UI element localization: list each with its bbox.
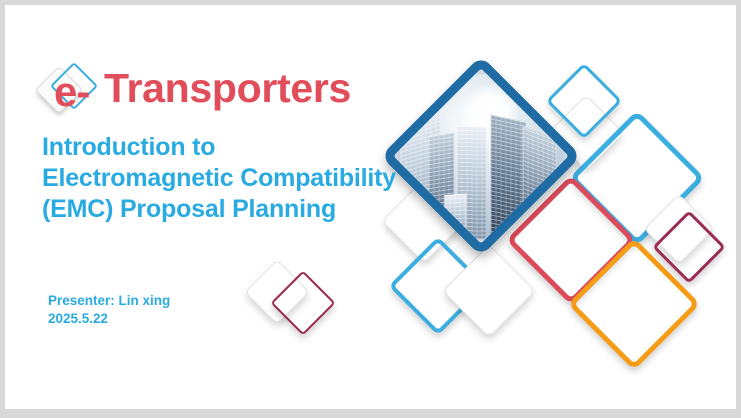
diamond-cyan-large-right (569, 110, 705, 246)
presentation-slide: e- Transporters Introduction to Electrom… (6, 6, 735, 408)
page-title: Introduction to Electromagnetic Compatib… (42, 132, 442, 225)
presenter-name: Presenter: Lin xing (48, 292, 170, 310)
diamond-logo-icon: e- (40, 65, 94, 117)
presentation-date: 2025.5.22 (48, 310, 170, 328)
diamond-gray-lower-mid (442, 244, 535, 337)
diamond-orange-bottom (568, 238, 701, 371)
page-title-line-3: (EMC) Proposal Planning (42, 194, 442, 225)
page-title-line-1: Introduction to (42, 132, 442, 163)
brand-prefix: e- (54, 66, 89, 118)
diamond-cyan-top-right (546, 63, 622, 139)
building-foreground-low (445, 193, 467, 239)
page-title-line-2: Electromagnetic Compatibility (42, 163, 442, 194)
diamond-maroon-right (652, 210, 726, 284)
presenter-block: Presenter: Lin xing 2025.5.22 (48, 292, 170, 328)
diamond-gray-right-small (644, 194, 715, 265)
diamond-gray-small-left (244, 259, 309, 324)
building-right-far (523, 126, 557, 239)
brand-lockup: e- Transporters (40, 61, 380, 119)
diamond-maroon-small-left (270, 270, 335, 335)
diamond-cyan-lower-left (389, 237, 488, 336)
brand-name: Transporters (104, 62, 351, 114)
building-right-tall (491, 114, 527, 239)
